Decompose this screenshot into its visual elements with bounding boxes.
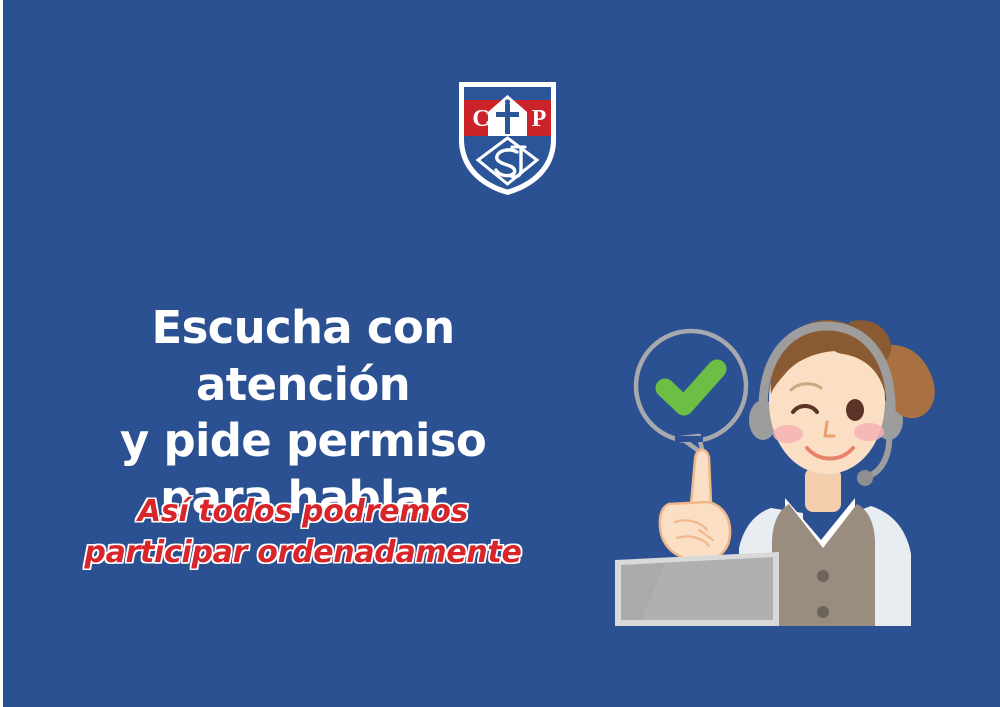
crest-letter-c: C [472, 106, 489, 132]
crest-svg: C P [455, 78, 560, 198]
crest-cross-horizontal [496, 112, 519, 117]
illustration [603, 308, 943, 633]
subline-text: Así todos podremos participar ordenadame… [43, 492, 563, 574]
vest-button-lower [817, 606, 829, 618]
character-head [749, 320, 935, 486]
neck [805, 468, 841, 512]
headset-mic-tip [857, 470, 873, 486]
crest-cross-top-dot [505, 99, 510, 104]
blush-right [854, 423, 884, 441]
school-crest: C P [455, 78, 560, 198]
vest-button-upper [817, 570, 829, 582]
pointing-hand [660, 450, 730, 560]
eye-right-open [846, 399, 864, 421]
illustration-svg [603, 308, 943, 633]
crest-cross-vertical [505, 104, 510, 134]
blush-left [773, 425, 803, 443]
poster-canvas: C P Escucha con atención y pide permiso … [0, 0, 1000, 707]
speech-bubble [636, 331, 746, 454]
laptop [615, 552, 779, 626]
crest-letter-p: P [532, 106, 547, 132]
check-mark-icon [665, 369, 717, 406]
fist [660, 502, 730, 560]
index-finger [691, 450, 711, 504]
